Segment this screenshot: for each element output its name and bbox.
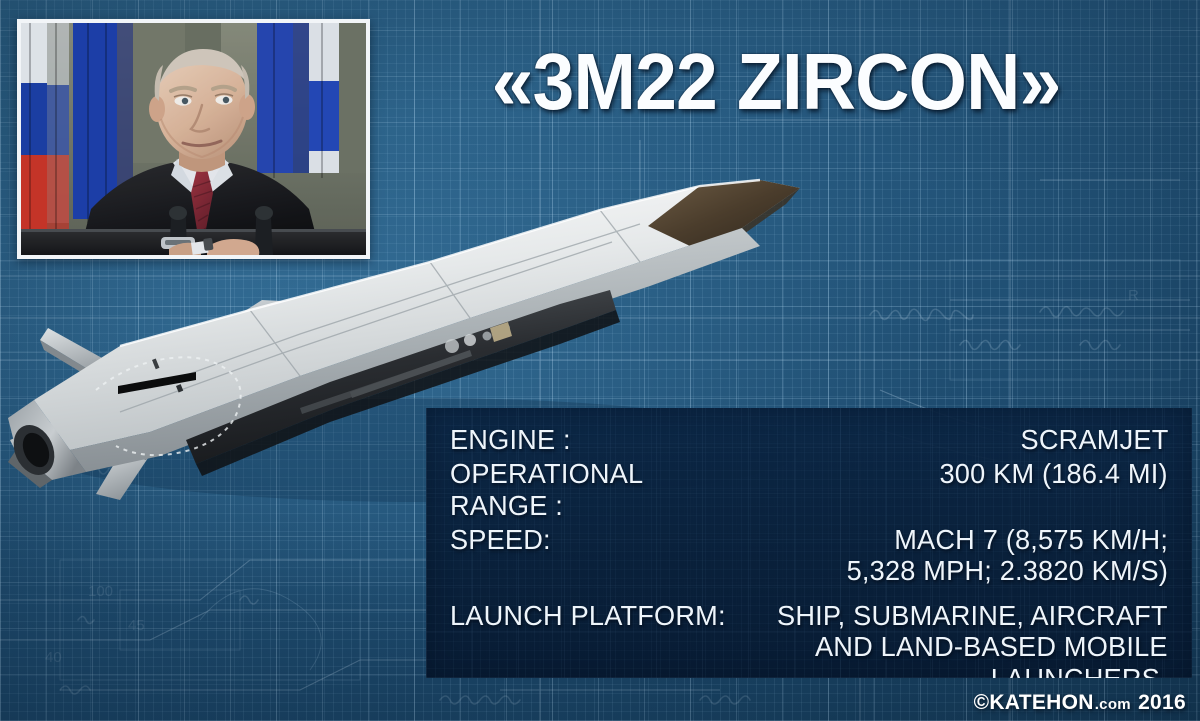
page-title: «3M22 ZIRCON» <box>409 36 1142 128</box>
specifications-panel: ENGINE : SCRAMJET OPERATIONAL RANGE : 30… <box>426 408 1192 678</box>
photo-clip <box>21 23 366 255</box>
copyright-symbol: © <box>974 691 990 715</box>
copyright-credit: ©KATEHON.com 2016 <box>974 691 1186 715</box>
spec-row-launch-platform: LAUNCH PLATFORM: SHIP, SUBMARINE, AIRCRA… <box>450 600 1168 678</box>
infographic-canvas: 100 45 40 R 272 <box>0 0 1200 721</box>
credit-brand: KATEHON <box>989 691 1093 715</box>
spec-value-launch-platform: SHIP, SUBMARINE, AIRCRAFT AND LAND-BASED… <box>765 600 1168 678</box>
spec-value-speed: MACH 7 (8,575 KM/H; 5,328 MPH; 2.3820 KM… <box>590 524 1168 587</box>
spec-row-speed: SPEED: MACH 7 (8,575 KM/H; 5,328 MPH; 2.… <box>450 524 1168 587</box>
spec-value-range: 300 KM (186.4 MI) <box>682 458 1168 489</box>
spec-label-launch-platform: LAUNCH PLATFORM: <box>450 600 726 631</box>
putin-photo-inset <box>17 19 370 259</box>
spec-rows: ENGINE : SCRAMJET OPERATIONAL RANGE : 30… <box>426 408 1192 678</box>
spec-label-range: OPERATIONAL RANGE : <box>450 458 643 521</box>
spec-value-engine: SCRAMJET <box>610 424 1168 455</box>
spec-row-range: OPERATIONAL RANGE : 300 KM (186.4 MI) <box>450 458 1168 521</box>
spec-row-engine: ENGINE : SCRAMJET <box>450 424 1168 455</box>
spec-label-speed: SPEED: <box>450 524 551 555</box>
credit-tld: .com <box>1095 696 1131 713</box>
credit-year: 2016 <box>1138 691 1186 715</box>
spec-label-engine: ENGINE : <box>450 424 571 455</box>
